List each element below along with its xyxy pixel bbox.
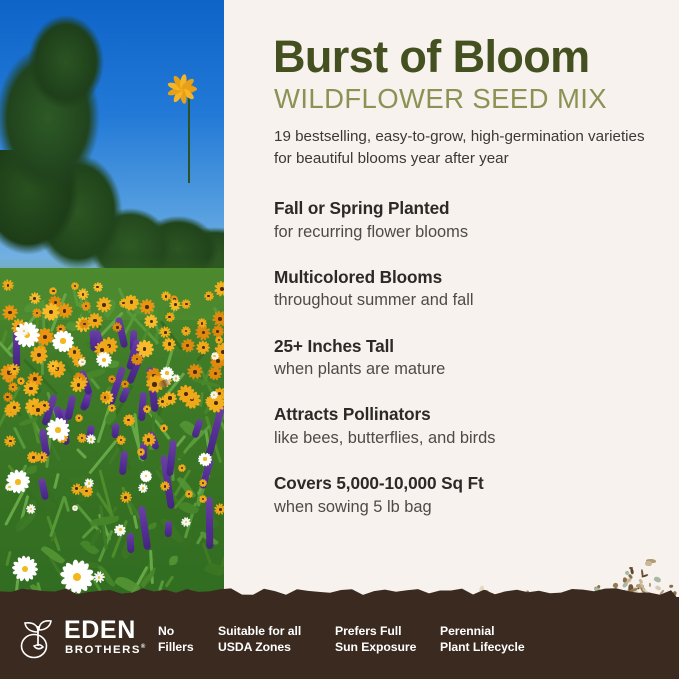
flower xyxy=(198,452,212,466)
flower xyxy=(5,482,14,491)
wildflower-meadow-photo xyxy=(0,0,224,679)
flower xyxy=(120,492,131,503)
flower xyxy=(48,360,59,371)
footer-badge: Prefers FullSun Exposure xyxy=(335,623,416,655)
flower xyxy=(88,313,103,328)
feature-item: Covers 5,000-10,000 Sq Ftwhen sowing 5 l… xyxy=(274,473,664,518)
flower xyxy=(92,282,103,293)
flower xyxy=(29,293,41,305)
flower xyxy=(75,414,83,422)
flower xyxy=(145,315,158,328)
flower xyxy=(114,524,126,536)
flower xyxy=(2,280,13,291)
feature-heading: Fall or Spring Planted xyxy=(274,198,664,220)
flower xyxy=(197,319,206,328)
feature-heading: Multicolored Blooms xyxy=(274,267,664,289)
flower xyxy=(78,289,89,300)
flower xyxy=(9,363,20,374)
badge-line-1: Suitable for all xyxy=(218,623,301,639)
flower xyxy=(8,382,18,392)
flower xyxy=(49,287,58,296)
flower xyxy=(42,303,60,321)
flower xyxy=(72,504,79,511)
flower xyxy=(136,341,153,358)
flower xyxy=(178,385,195,402)
flower xyxy=(162,337,177,352)
purple-flower-spike xyxy=(206,497,214,549)
feature-subtext: when sowing 5 lb bag xyxy=(274,497,664,518)
flower xyxy=(81,301,91,311)
tall-flower-stem xyxy=(188,95,190,183)
footer-badge: Suitable for allUSDA Zones xyxy=(218,623,301,655)
feature-subtext: like bees, butterflies, and birds xyxy=(274,428,664,449)
flower xyxy=(36,452,48,464)
flower xyxy=(96,296,112,312)
torn-edge-divider xyxy=(0,584,679,600)
flower xyxy=(116,435,125,444)
sprout-seedling-icon xyxy=(18,619,60,659)
footer-bar: EDEN BROTHERS® NoFillersSuitable for all… xyxy=(0,597,679,679)
flower xyxy=(138,299,155,316)
flower xyxy=(8,401,21,414)
feature-heading: Attracts Pollinators xyxy=(274,404,664,426)
badge-line-2: Plant Lifecycle xyxy=(440,639,525,655)
brand-name: EDEN xyxy=(64,618,136,643)
flower xyxy=(181,326,191,336)
flower xyxy=(160,425,168,433)
flower xyxy=(160,327,171,338)
flower xyxy=(71,282,80,291)
flower xyxy=(27,505,36,514)
flower xyxy=(211,353,218,360)
feature-item: Fall or Spring Plantedfor recurring flow… xyxy=(274,198,664,243)
flower xyxy=(93,572,104,583)
flower xyxy=(178,464,186,472)
flower xyxy=(203,291,214,302)
flower xyxy=(23,381,38,396)
flower xyxy=(20,326,30,336)
brand-sub-text: BROTHERS xyxy=(65,644,141,656)
purple-flower-spike xyxy=(126,533,134,553)
flower xyxy=(5,435,16,446)
page-title: Burst of Bloom xyxy=(273,34,590,79)
flower xyxy=(196,340,211,355)
flower xyxy=(143,405,150,412)
feature-item: 25+ Inches Tallwhen plants are mature xyxy=(274,336,664,381)
product-info-card: Burst of Bloom WILDFLOWER SEED MIX 19 be… xyxy=(0,0,679,679)
badge-line-1: Prefers Full xyxy=(335,623,416,639)
flower xyxy=(137,448,145,456)
flower xyxy=(209,367,222,380)
badge-line-2: Sun Exposure xyxy=(335,639,416,655)
flower xyxy=(199,495,207,503)
feature-heading: 25+ Inches Tall xyxy=(274,336,664,358)
flower xyxy=(172,374,180,382)
flower xyxy=(163,391,177,405)
feature-list: Fall or Spring Plantedfor recurring flow… xyxy=(274,198,664,542)
footer-badge: NoFillers xyxy=(158,623,194,655)
flower xyxy=(118,298,128,308)
product-description: 19 bestselling, easy-to-grow, high-germi… xyxy=(274,126,649,169)
flower xyxy=(32,308,42,318)
badge-line-2: USDA Zones xyxy=(218,639,301,655)
flower xyxy=(96,352,112,368)
flower xyxy=(181,299,191,309)
flower xyxy=(210,391,218,399)
flower xyxy=(30,346,49,365)
flower xyxy=(84,478,94,488)
flower xyxy=(46,418,70,442)
flower xyxy=(180,339,194,353)
flower xyxy=(71,377,86,392)
flower xyxy=(100,392,110,402)
flower xyxy=(170,299,181,310)
flower xyxy=(79,358,86,365)
flower xyxy=(123,414,135,426)
badge-line-2: Fillers xyxy=(158,639,194,655)
brand-subtitle: BROTHERS® xyxy=(65,644,145,656)
flower xyxy=(108,375,116,383)
flower xyxy=(214,504,224,516)
trademark-symbol: ® xyxy=(141,644,145,650)
tall-yellow-flower xyxy=(174,80,206,98)
flower xyxy=(2,305,18,321)
flower xyxy=(108,404,117,413)
brand-logo[interactable]: EDEN BROTHERS® xyxy=(18,617,140,661)
flower xyxy=(199,479,207,487)
flower xyxy=(121,379,130,388)
flower xyxy=(52,330,74,352)
flower xyxy=(214,281,224,298)
flower xyxy=(138,483,149,494)
flower xyxy=(12,556,38,582)
flower xyxy=(113,323,123,333)
feature-subtext: for recurring flower blooms xyxy=(274,222,664,243)
flower xyxy=(86,435,96,445)
flower xyxy=(142,433,156,447)
flower xyxy=(80,320,89,329)
feature-heading: Covers 5,000-10,000 Sq Ft xyxy=(274,473,664,495)
evergreen-tree-top xyxy=(18,0,114,120)
flower xyxy=(182,517,191,526)
flower xyxy=(162,292,171,301)
flower xyxy=(160,482,170,492)
content-panel: Burst of Bloom WILDFLOWER SEED MIX 19 be… xyxy=(224,0,679,679)
product-subtitle: WILDFLOWER SEED MIX xyxy=(274,85,607,113)
badge-line-1: No xyxy=(158,623,194,639)
feature-item: Attracts Pollinatorslike bees, butterfli… xyxy=(274,404,664,449)
footer-badge: PerennialPlant Lifecycle xyxy=(440,623,525,655)
flower xyxy=(140,470,152,482)
feature-subtext: throughout summer and fall xyxy=(274,290,664,311)
badge-line-1: Perennial xyxy=(440,623,525,639)
purple-flower-spike xyxy=(164,521,172,538)
flower xyxy=(185,491,192,498)
feature-item: Multicolored Bloomsthroughout summer and… xyxy=(274,267,664,312)
flower xyxy=(31,403,46,418)
flower xyxy=(165,312,174,321)
flower xyxy=(187,364,202,379)
feature-subtext: when plants are mature xyxy=(274,359,664,380)
